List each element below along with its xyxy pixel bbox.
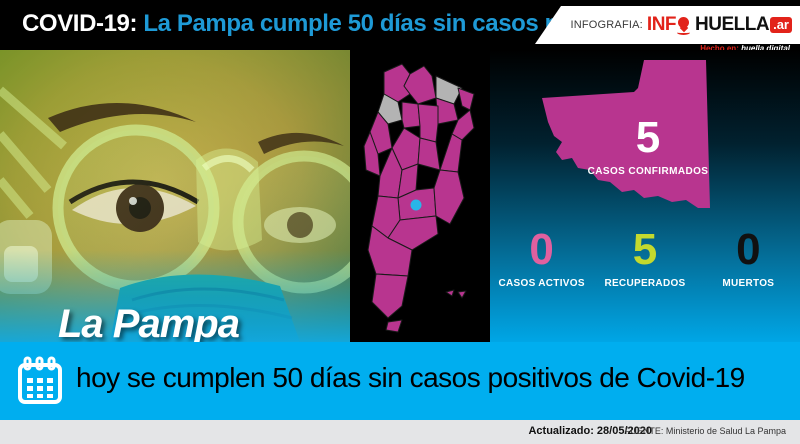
kpi-label: RECUPERADOS [593, 278, 696, 289]
source-credit: FUENTE: Ministerio de Salud La Pampa [625, 426, 786, 436]
healthcare-worker-goggles-mask-photo [0, 50, 350, 342]
title-prefix: COVID-19: [22, 10, 137, 37]
calendar-icon [16, 356, 64, 406]
argentina-map-panel [350, 50, 490, 342]
location-pin-icon [677, 16, 690, 35]
photo-caption: La Pampa [58, 302, 239, 342]
header-bar: COVID-19: La Pampa cumple 50 días sin ca… [0, 0, 800, 50]
message-band: hoy se cumplen 50 días sin casos positiv… [0, 342, 800, 420]
argentina-map [358, 58, 482, 334]
kpi-label: MUERTOS [697, 278, 800, 289]
kpi-value: 0 [490, 228, 593, 272]
la-pampa-location-dot [411, 200, 422, 211]
logo-prefix: INFOGRAFIA: [570, 19, 642, 31]
stats-panel: 5 CASOS CONFIRMADOS 0 CASOS ACTIVOS 5 RE… [490, 50, 800, 342]
infographic-page: COVID-19: La Pampa cumple 50 días sin ca… [0, 0, 800, 444]
kpi-recuperados: 5 RECUPERADOS [593, 228, 696, 289]
footer-bar: Actualizado: 28/05/2020 FUENTE: Minister… [0, 420, 800, 444]
la-pampa-province-shape: 5 CASOS CONFIRMADOS [538, 58, 758, 218]
kpi-muertos: 0 MUERTOS [697, 228, 800, 289]
band-message: hoy se cumplen 50 días sin casos positiv… [76, 362, 745, 394]
hero-photo: La Pampa [0, 50, 350, 342]
kpi-casos-activos: 0 CASOS ACTIVOS [490, 228, 593, 289]
kpi-row: 0 CASOS ACTIVOS 5 RECUPERADOS 0 MUERTOS [490, 228, 800, 289]
logo-tld-badge: .ar [770, 17, 792, 33]
kpi-value: 5 [593, 228, 696, 272]
confirmed-cases-value: 5 [538, 116, 758, 160]
logo-brand-text: HUELLA [695, 14, 769, 36]
kpi-label: CASOS ACTIVOS [490, 278, 593, 289]
kpi-value: 0 [697, 228, 800, 272]
confirmed-cases-label: CASOS CONFIRMADOS [538, 166, 758, 177]
brand-logo[interactable]: INFOGRAFIA: INF HUELLA .ar [570, 14, 792, 36]
logo-info-text: INF [647, 14, 676, 36]
